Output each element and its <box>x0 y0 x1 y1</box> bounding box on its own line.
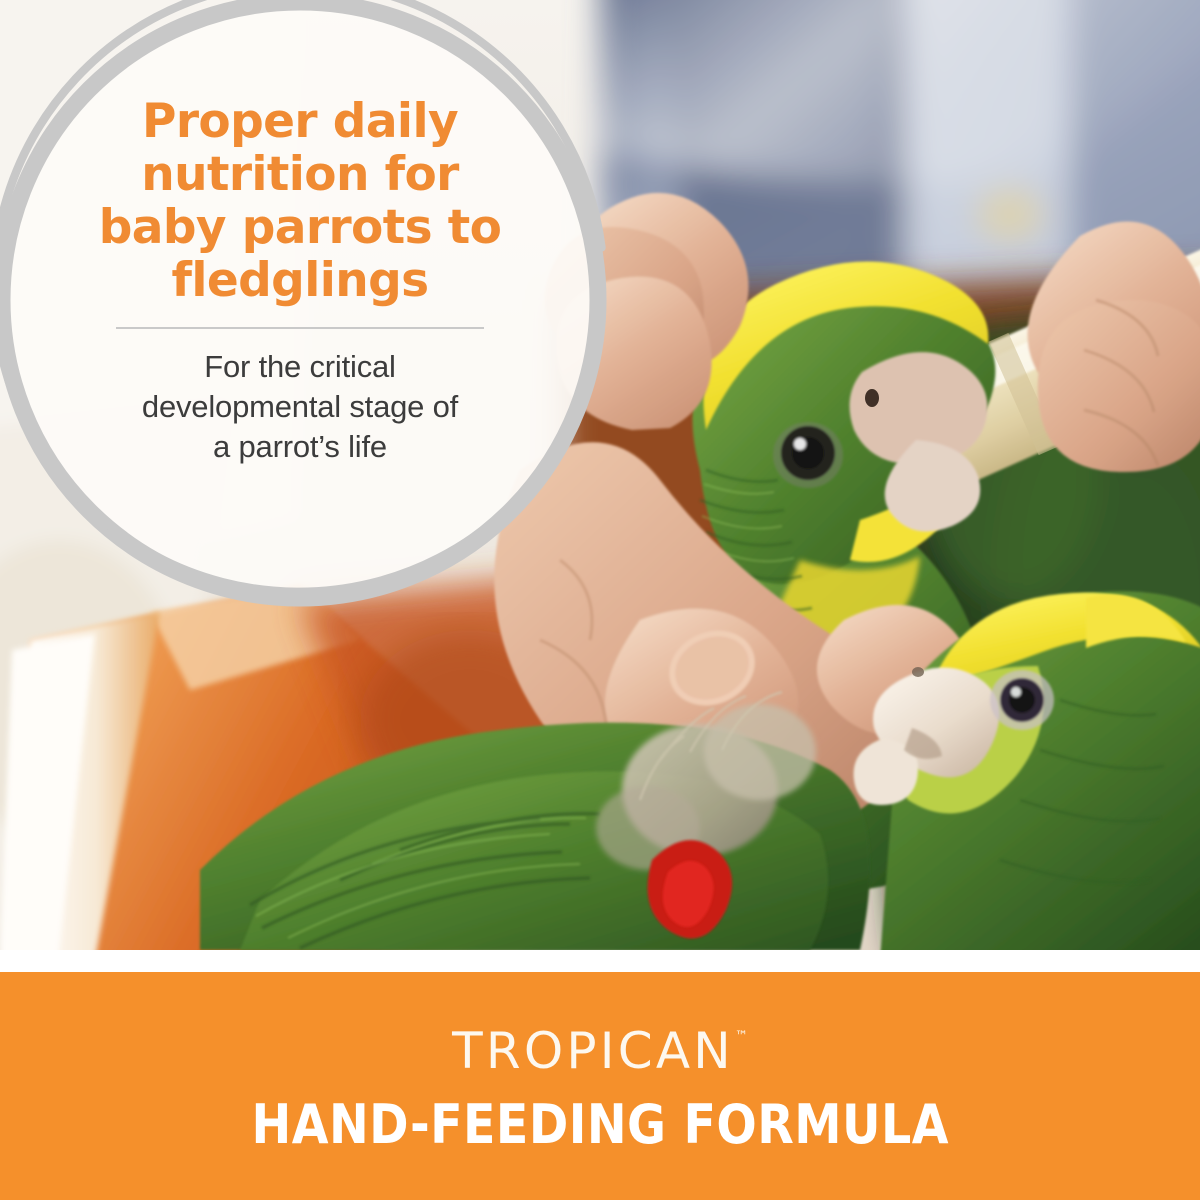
badge-text-block: Proper daily nutrition for baby parrots … <box>60 95 540 466</box>
badge-subline: For the critical developmental stage of … <box>60 347 540 466</box>
headline-divider <box>116 327 484 329</box>
tropican-product-poster: Proper daily nutrition for baby parrots … <box>0 0 1200 1200</box>
trademark-icon: ™ <box>735 1030 748 1043</box>
photo-bar-separator <box>0 950 1200 972</box>
brand-tagline: HAND-FEEDING FORMULA <box>251 1098 948 1152</box>
brand-wordmark: TROPICAN <box>452 1026 734 1076</box>
badge-headline: Proper daily nutrition for baby parrots … <box>60 95 540 307</box>
brand-logo: TROPICAN ™ <box>452 1026 748 1076</box>
brand-footer-bar: TROPICAN ™ HAND-FEEDING FORMULA <box>0 972 1200 1200</box>
